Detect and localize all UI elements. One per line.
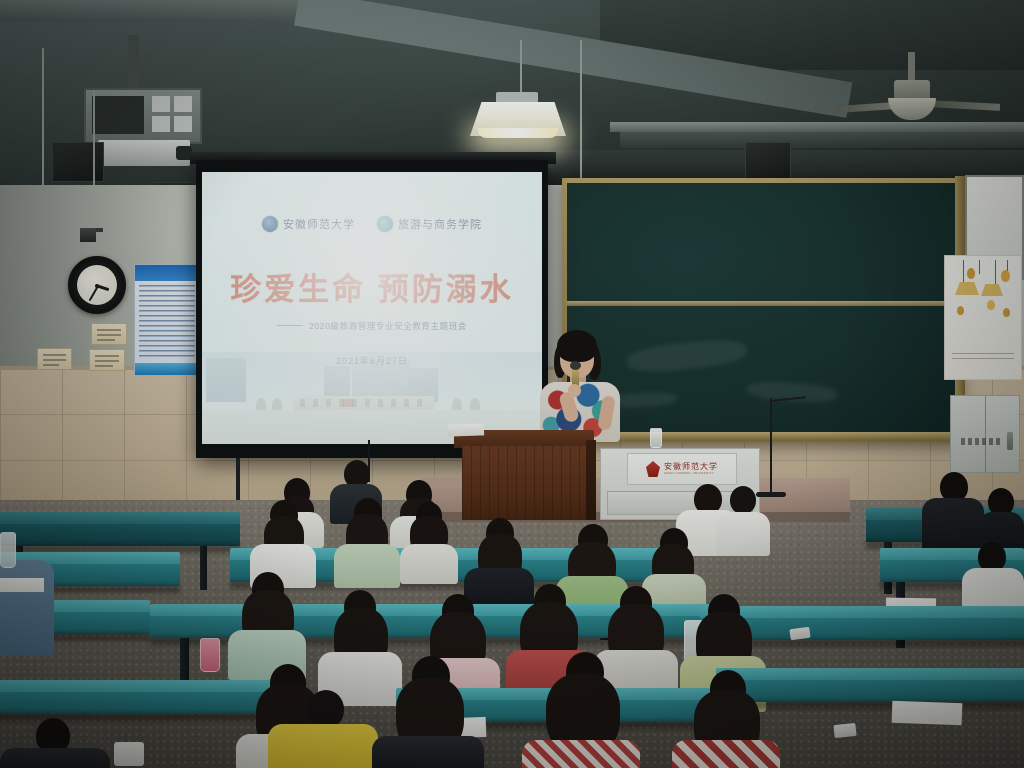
student [672,670,780,768]
university-emblem-panel: 安徽师范大学 ANHUI NORMAL UNIVERSITY [627,453,737,485]
blackboard-center-rail [567,301,957,306]
ceiling-rail-shadow [620,132,1024,148]
smartphone[interactable] [833,723,856,738]
classroom-photo: 安徽师范大学 旅游与商务学院 珍爱生命 预防溺水 2020级旅游管理专业安全教育… [0,0,1024,768]
podium-wood-grain [462,446,586,520]
water-bottle-on-cabinet [650,428,662,448]
emblem-latin: ANHUI NORMAL UNIVERSITY [664,472,718,475]
podium-papers [448,423,484,436]
notice-board [134,264,200,376]
ceiling-fan-rod [908,52,915,82]
university-emblem-icon [646,461,660,477]
wall-paper-sign-3 [89,349,125,371]
notebook [0,578,44,592]
student [334,498,400,584]
cctv-camera [80,228,96,242]
water-bottle [200,638,220,672]
wall-speaker-right [745,142,791,180]
wall-paper-sign-2 [37,348,72,370]
cabinet-label [961,438,1003,445]
ceiling-rail [610,122,1024,132]
wall-speaker-left [52,142,104,182]
student [522,652,640,768]
speaker-hair [557,330,597,362]
speaker-person [532,330,628,442]
mic-stand [770,398,772,494]
screen-support-left [236,458,240,500]
projection-screen: 安徽师范大学 旅游与商务学院 珍爱生命 预防溺水 2020级旅游管理专业安全教育… [196,160,548,458]
student [0,560,54,656]
ceiling-fan-motor [894,80,930,100]
light-rod-4 [93,90,95,188]
cup [114,742,144,766]
light-rod-1 [520,40,522,94]
light-rod-2 [580,40,582,198]
speaker-hand [568,384,581,397]
notebook [892,701,963,725]
light-rod-3 [42,48,44,188]
ceiling-beam-left [0,0,300,22]
desk-leg [200,546,207,590]
student [268,690,378,768]
decorative-lamp-poster [944,255,1022,380]
lamp-shade-icon [981,284,1003,296]
student [0,718,110,768]
microphone-head [570,361,581,370]
cabinet-latch[interactable] [1007,432,1013,450]
projector-cage [84,88,202,144]
water-bottle [0,532,16,568]
student [716,486,770,556]
university-emblem-text: 安徽师范大学 ANHUI NORMAL UNIVERSITY [664,463,718,475]
projector-mount-pole [128,35,139,93]
emblem-name: 安徽师范大学 [664,462,718,471]
student [400,502,458,582]
podium-side-panel [586,440,596,520]
wall-clock [68,256,126,314]
wall-paper-sign-1 [91,323,127,345]
lamp-shade-icon [955,282,979,295]
student [372,656,484,768]
student [228,572,306,678]
electrical-cabinet[interactable] [950,395,1020,473]
